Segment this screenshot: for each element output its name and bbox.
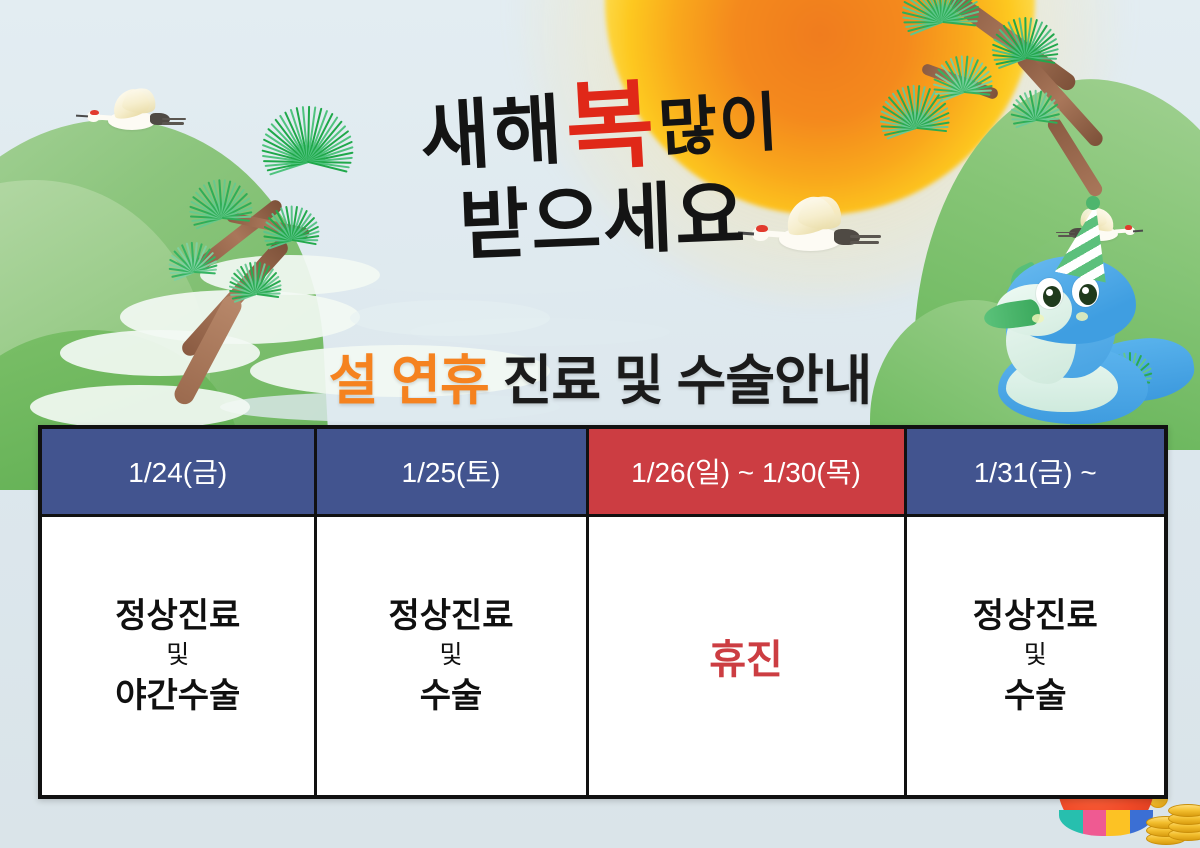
cell-line3: 수술 <box>911 675 1161 718</box>
bag-stripes-icon <box>1059 810 1153 836</box>
cell-line2: 및 <box>46 637 310 675</box>
table-header-row: 1/24(금) 1/25(토) 1/26(일) ~ 1/30(목) 1/31(금… <box>40 427 1166 515</box>
schedule-date-header-2: 1/26(일) ~ 1/30(목) <box>587 427 905 515</box>
subtitle-highlight: 설 연휴 <box>329 351 489 411</box>
page-subtitle: 설 연휴 진료 및 수술안내 <box>0 336 1200 415</box>
table-body-row: 정상진료 및 야간수술 정상진료 및 수술 휴진 정상진료 및 수술 <box>40 515 1166 797</box>
schedule-cell-0: 정상진료 및 야간수술 <box>40 515 315 797</box>
schedule-cell-2: 휴진 <box>587 515 905 797</box>
schedule-date-header-1: 1/25(토) <box>315 427 587 515</box>
subtitle-rest: 진료 및 수술안내 <box>503 351 872 411</box>
cell-line3: 야간수술 <box>46 675 310 718</box>
snake-cheek-icon <box>1032 314 1044 323</box>
schedule-cell-1: 정상진료 및 수술 <box>315 515 587 797</box>
cell-line2: 및 <box>321 637 582 675</box>
cell-closed-label: 휴진 <box>593 627 900 685</box>
crane-left-icon <box>78 88 208 168</box>
cell-line1: 정상진료 <box>46 595 310 638</box>
cell-line1: 정상진료 <box>911 595 1161 638</box>
snake-eye-icon <box>1072 276 1099 307</box>
lunar-new-year-poster: 새해복많이 받으세요 설 연휴 진료 및 수술안내 1/24(금) 1/25(토… <box>0 0 1200 848</box>
crane-center-icon <box>740 196 910 286</box>
cell-line3: 수술 <box>321 675 582 718</box>
party-hat-pompom-icon <box>1086 196 1100 210</box>
cell-line1: 정상진료 <box>321 595 582 638</box>
snake-eye-icon <box>1036 278 1063 309</box>
snake-cheek-icon <box>1076 312 1088 321</box>
cell-line2: 및 <box>911 637 1161 675</box>
schedule-date-header-0: 1/24(금) <box>40 427 315 515</box>
schedule-cell-3: 정상진료 및 수술 <box>905 515 1166 797</box>
schedule-date-header-3: 1/31(금) ~ <box>905 427 1166 515</box>
holiday-schedule-table: 1/24(금) 1/25(토) 1/26(일) ~ 1/30(목) 1/31(금… <box>38 425 1168 799</box>
